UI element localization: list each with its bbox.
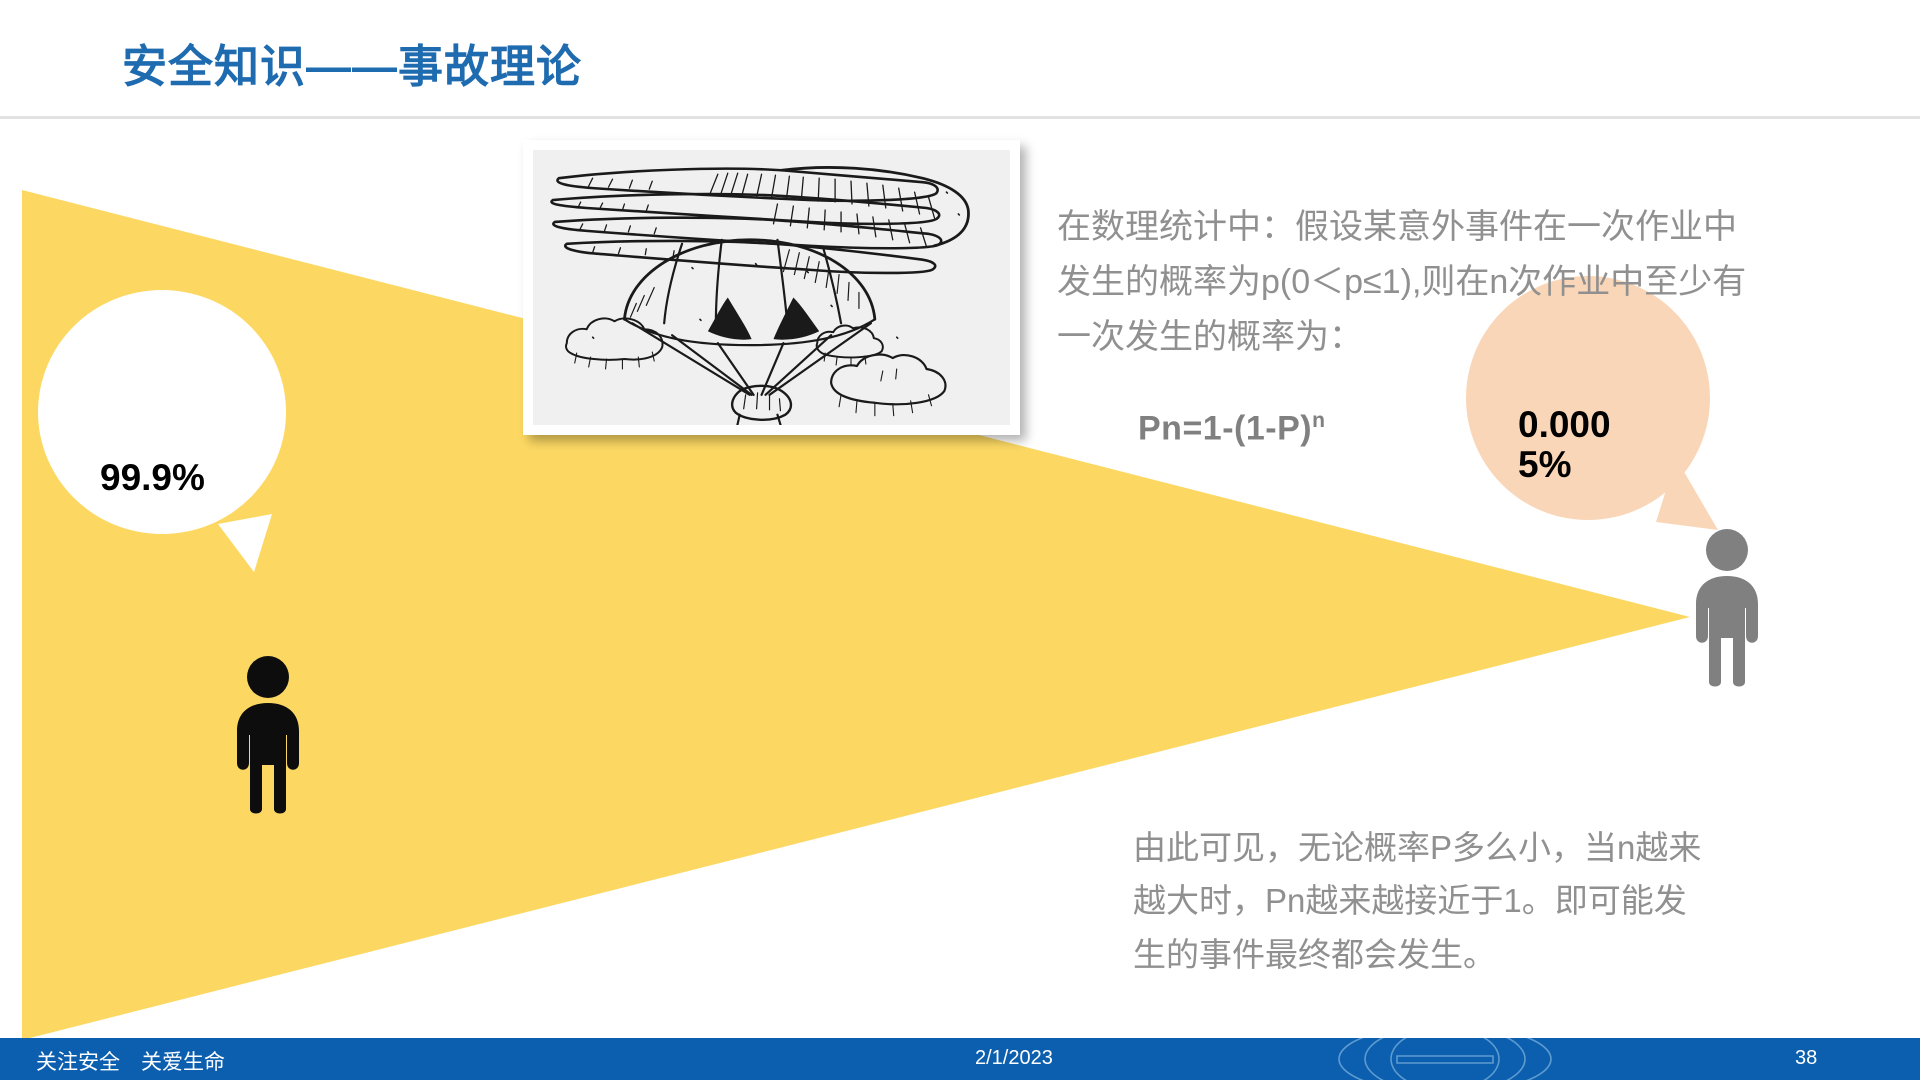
body-line-1: 在数理统计中：假设某意外事件在一次作业中 bbox=[1057, 200, 1877, 255]
conclusion-paragraph: 由此可见，无论概率P多么小，当n越来 越大时，Pn越来越接近于1。即可能发 生的… bbox=[1133, 821, 1920, 981]
body-line-3: 一次发生的概率为： bbox=[1057, 310, 1877, 365]
formula-exponent: n bbox=[1312, 409, 1325, 432]
footer-page-number: 38 bbox=[1795, 1047, 1817, 1070]
company-emblem-icon bbox=[1335, 1038, 1555, 1080]
conclusion-line-1: 由此可见，无论概率P多么小，当n越来 bbox=[1133, 821, 1920, 874]
footer-bar: 关注安全 关爱生命 2/1/2023 38 bbox=[0, 1038, 1920, 1080]
sketch-photo-frame bbox=[523, 140, 1020, 435]
conclusion-line-2: 越大时，Pn越来越接近于1。即可能发 bbox=[1133, 874, 1920, 927]
footer-date: 2/1/2023 bbox=[975, 1047, 1053, 1070]
bubble-right-value: 0.0005% bbox=[1518, 405, 1636, 485]
header-divider bbox=[0, 116, 1920, 119]
parachute-sketch-icon bbox=[533, 150, 1010, 425]
footer-slogan: 关注安全 关爱生命 bbox=[36, 1046, 225, 1076]
body-paragraph: 在数理统计中：假设某意外事件在一次作业中 发生的概率为p(0＜p≤1),则在n次… bbox=[1057, 200, 1877, 365]
speech-bubble-left bbox=[22, 282, 342, 582]
probability-formula: Pn=1-(1-P)n bbox=[1138, 409, 1325, 448]
body-line-2: 发生的概率为p(0＜p≤1),则在n次作业中至少有 bbox=[1057, 255, 1877, 310]
formula-base: Pn=1-(1-P) bbox=[1138, 409, 1312, 447]
black-person-figure bbox=[229, 655, 307, 815]
gray-person-figure bbox=[1688, 528, 1766, 688]
conclusion-line-3: 生的事件最终都会发生。 bbox=[1133, 928, 1920, 981]
slide-canvas: 安全知识——事故理论 bbox=[0, 0, 1920, 1080]
sketch-photo-inner bbox=[533, 150, 1010, 425]
page-title: 安全知识——事故理论 bbox=[122, 30, 582, 95]
bubble-left-value: 99.9% bbox=[100, 458, 300, 498]
